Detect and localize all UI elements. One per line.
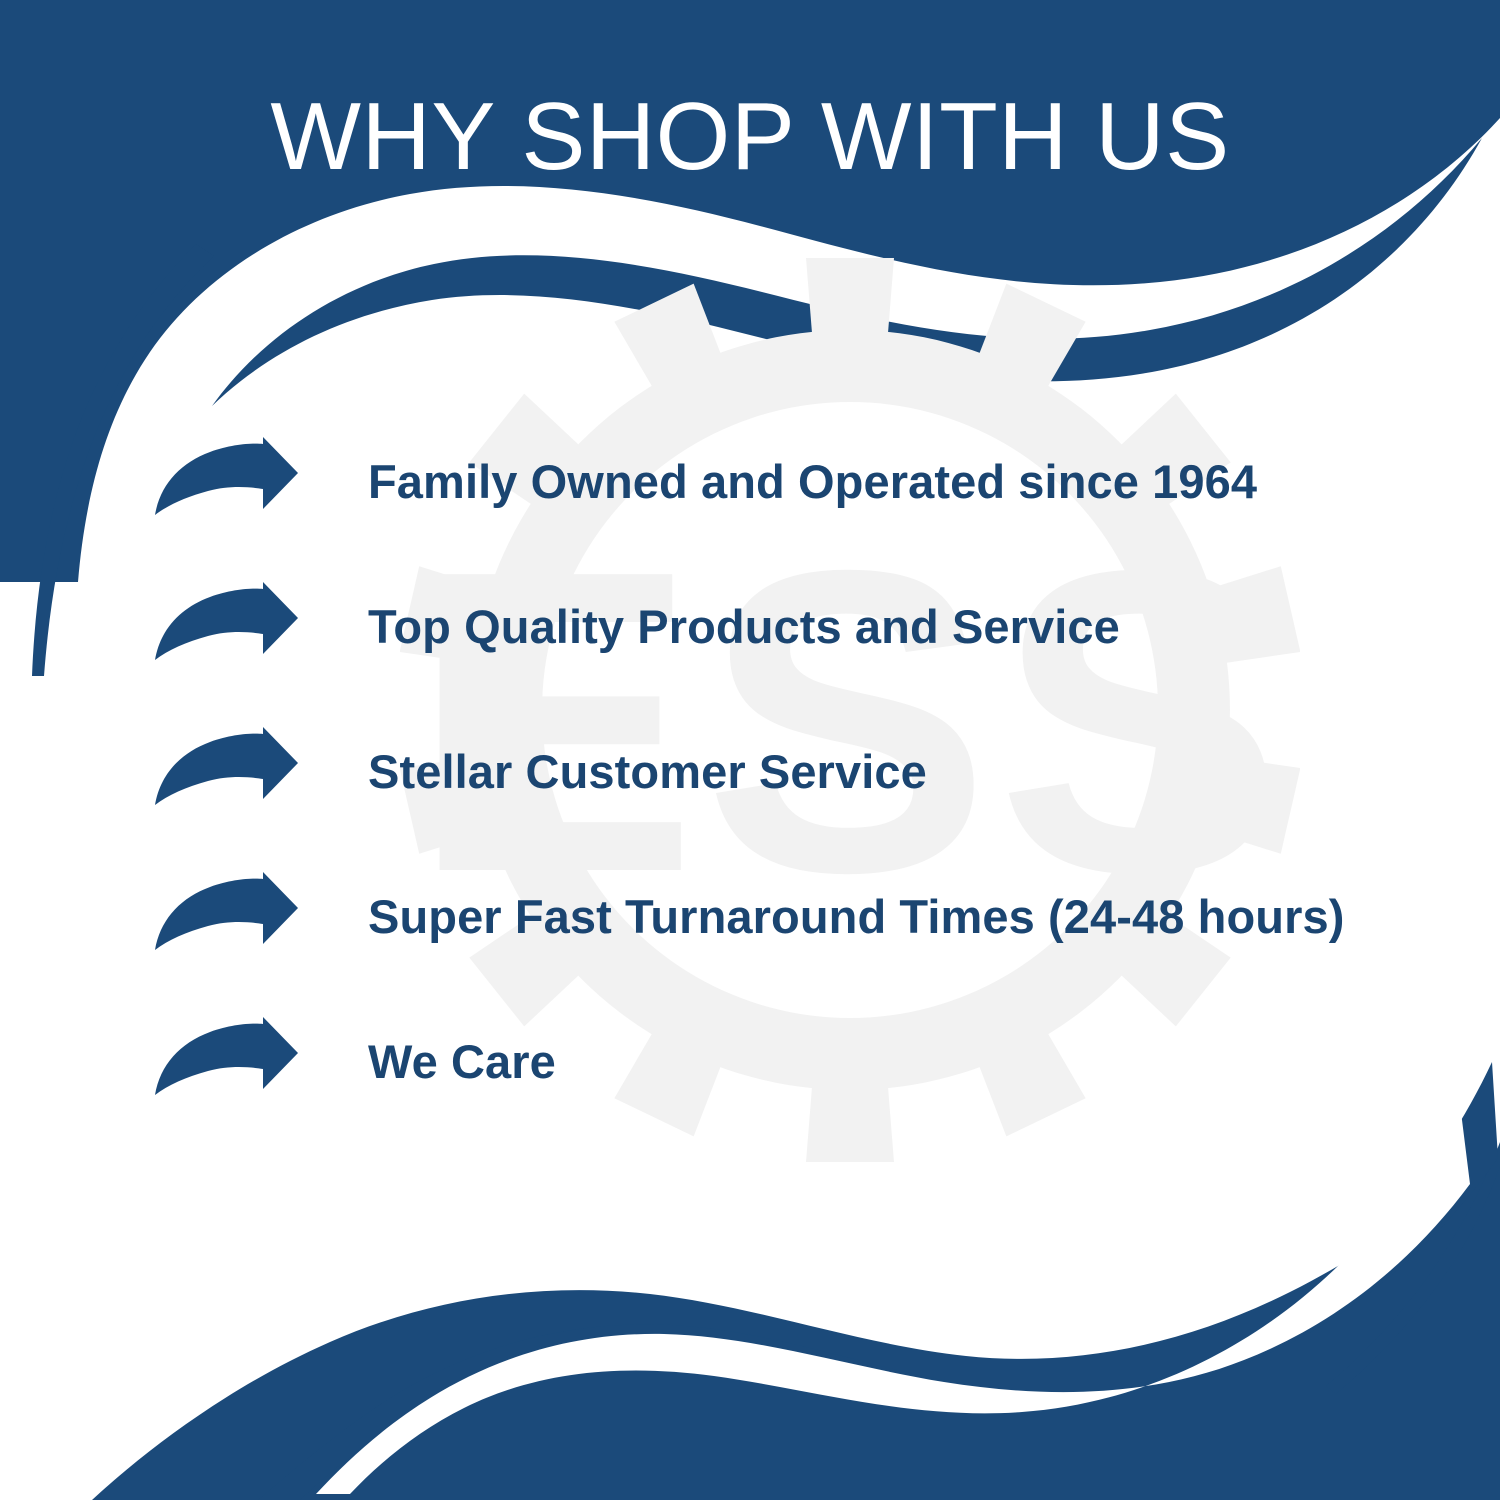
list-item: We Care (150, 1013, 556, 1109)
list-item: Top Quality Products and Service (150, 578, 1120, 674)
curved-arrow-right-icon (150, 872, 300, 960)
curved-arrow-right-icon (150, 727, 300, 815)
benefits-list: Family Owned and Operated since 1964 Top… (0, 0, 1500, 1500)
list-item-label: Stellar Customer Service (368, 748, 927, 795)
list-item: Super Fast Turnaround Times (24-48 hours… (150, 868, 1344, 964)
list-item: Stellar Customer Service (150, 723, 927, 819)
curved-arrow-right-icon (150, 1017, 300, 1105)
list-item-label: Family Owned and Operated since 1964 (368, 458, 1257, 505)
list-item: Family Owned and Operated since 1964 (150, 433, 1257, 529)
why-shop-with-us-poster: ESS WHY SHOP WITH US Family Owned and Op… (0, 0, 1500, 1500)
curved-arrow-right-icon (150, 582, 300, 670)
list-item-label: We Care (368, 1038, 556, 1085)
curved-arrow-right-icon (150, 437, 300, 525)
list-item-label: Top Quality Products and Service (368, 603, 1120, 650)
list-item-label: Super Fast Turnaround Times (24-48 hours… (368, 893, 1344, 940)
